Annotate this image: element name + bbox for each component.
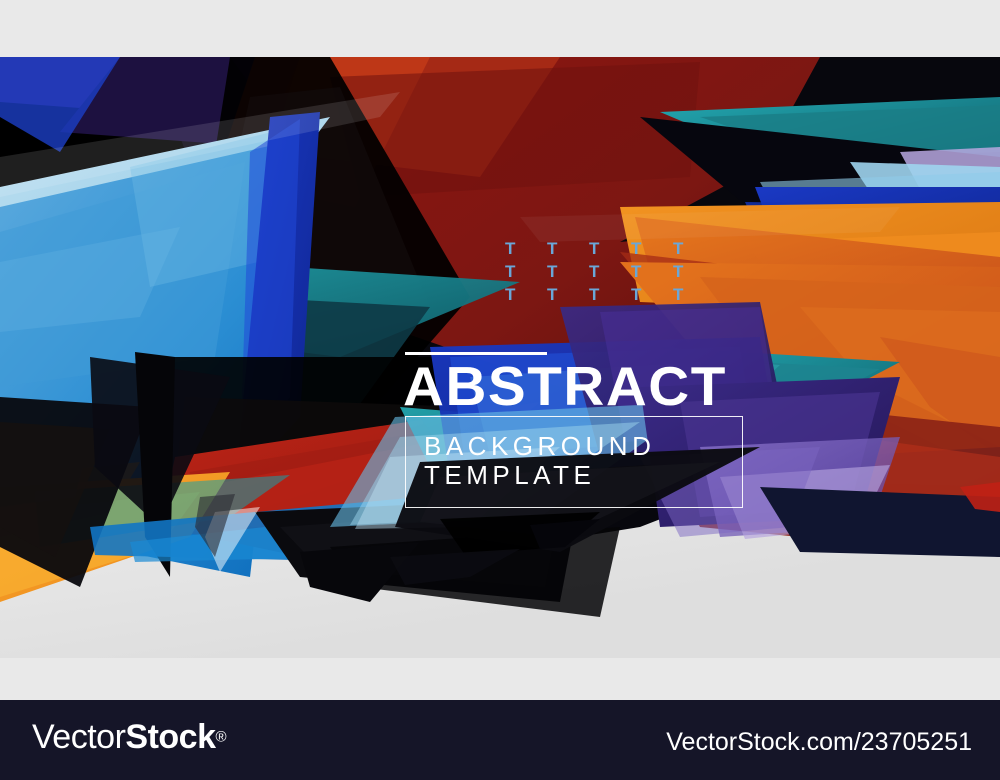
- vectorstock-logo: VectorStock®: [32, 718, 227, 757]
- polygon-composition: [0, 57, 1000, 658]
- abstract-artwork: [0, 57, 1000, 658]
- page-root: T T T T T T T T T T T T T T T ABSTRACT B…: [0, 0, 1000, 780]
- logo-light-part: Vector: [32, 718, 125, 756]
- logo-bold-part: Stock: [125, 718, 215, 756]
- watermark-url: VectorStock.com/23705251: [666, 728, 972, 757]
- registered-mark-icon: ®: [215, 729, 226, 746]
